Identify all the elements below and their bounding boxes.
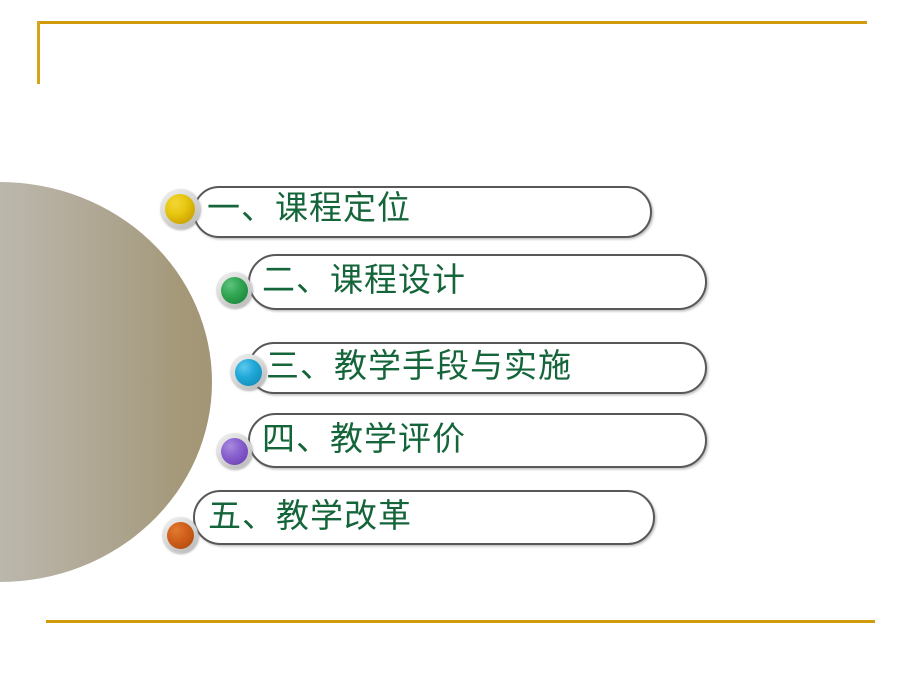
top-gold-rule: [37, 21, 867, 24]
slide-canvas: 一、课程定位 二、课程设计 三、教学手段与实施 四、教学评价 五、教学改革: [0, 0, 920, 690]
bullet-orb-green-icon: [216, 272, 252, 308]
agenda-label-3: 三、教学手段与实施: [266, 351, 572, 384]
agenda-label-2: 二、课程设计: [262, 265, 466, 298]
bottom-gold-rule: [46, 620, 875, 623]
left-gold-rule: [37, 21, 40, 84]
bullet-orb-blue-icon: [230, 354, 266, 390]
bullet-orb-orange-icon: [162, 517, 198, 553]
agenda-label-5: 五、教学改革: [208, 501, 412, 534]
bullet-orb-gold-icon: [160, 189, 200, 229]
bullet-orb-purple-icon: [216, 433, 252, 469]
agenda-label-1: 一、课程定位: [207, 193, 411, 226]
agenda-label-4: 四、教学评价: [262, 424, 466, 457]
